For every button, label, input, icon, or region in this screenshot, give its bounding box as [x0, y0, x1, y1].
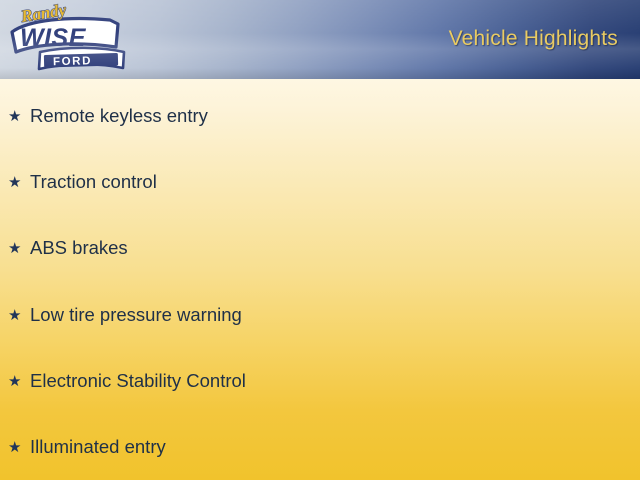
randy-wise-ford-logo: WISE FORD Randy: [6, 2, 134, 78]
svg-text:FORD: FORD: [53, 55, 92, 68]
list-item-label: Electronic Stability Control: [30, 372, 246, 391]
list-item: ★ Illuminated entry: [8, 434, 166, 460]
list-item: ★ Traction control: [8, 169, 157, 195]
list-item-label: Low tire pressure warning: [30, 306, 242, 325]
header-bar: WISE FORD Randy Vehicle Highlights: [0, 0, 640, 79]
list-item-label: Traction control: [30, 173, 157, 192]
page-title: Vehicle Highlights: [449, 27, 618, 51]
star-bullet-icon: ★: [8, 241, 30, 256]
list-item-label: Illuminated entry: [30, 438, 166, 457]
star-bullet-icon: ★: [8, 109, 30, 124]
vehicle-highlights-list: ★ Remote keyless entry ★ Traction contro…: [0, 79, 640, 480]
vehicle-highlights-page: WISE FORD Randy Vehicle Highlights ★ Rem…: [0, 0, 640, 480]
star-bullet-icon: ★: [8, 308, 30, 323]
star-bullet-icon: ★: [8, 374, 30, 389]
star-bullet-icon: ★: [8, 440, 30, 455]
list-item: ★ Low tire pressure warning: [8, 302, 242, 328]
list-item: ★ ABS brakes: [8, 235, 128, 261]
list-item: ★ Remote keyless entry: [8, 103, 208, 129]
star-bullet-icon: ★: [8, 175, 30, 190]
list-item: ★ Electronic Stability Control: [8, 368, 246, 394]
list-item-label: ABS brakes: [30, 239, 128, 258]
list-item-label: Remote keyless entry: [30, 107, 208, 126]
